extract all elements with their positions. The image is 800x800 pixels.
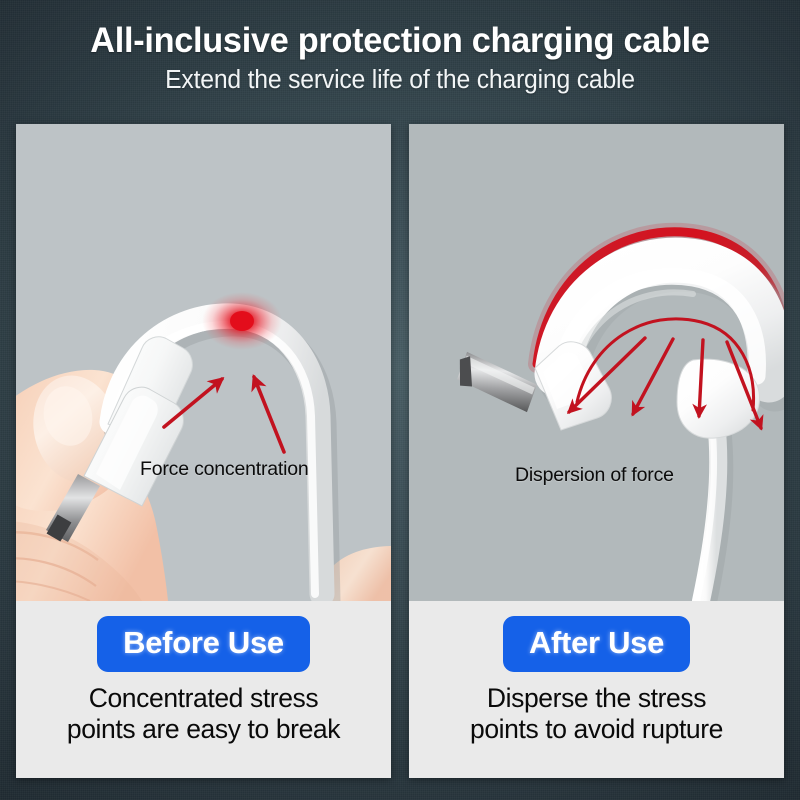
caption-before-use: Before Use Concentrated stress points ar…	[16, 601, 391, 778]
stress-point-indicator	[202, 292, 282, 350]
force-concentration-label: Force concentration	[140, 458, 309, 481]
illustration-dispersion-of-force	[409, 124, 784, 601]
illustration-force-concentration	[16, 124, 391, 601]
badge-before-use: Before Use	[97, 616, 310, 672]
caption-after-use: After Use Disperse the stress points to …	[409, 601, 784, 778]
panel-after-use: Dispersion of force After Use Disperse t…	[409, 124, 784, 778]
page-subtitle: Extend the service life of the charging …	[12, 66, 788, 95]
caption-line-2: points are easy to break	[22, 714, 385, 745]
panel-before-use: Force concentration Before Use Concentra…	[16, 124, 391, 778]
caption-text-after-use: Disperse the stress points to avoid rupt…	[409, 683, 784, 744]
photo-before-use: Force concentration	[16, 124, 391, 601]
comparison-panels: Force concentration Before Use Concentra…	[16, 124, 784, 778]
caption-text-before-use: Concentrated stress points are easy to b…	[16, 683, 391, 744]
caption-line-1: Disperse the stress	[415, 683, 778, 714]
product-infographic: All-inclusive protection charging cable …	[0, 0, 800, 800]
caption-line-2: points to avoid rupture	[415, 714, 778, 745]
caption-line-1: Concentrated stress	[22, 683, 385, 714]
page-title: All-inclusive protection charging cable	[8, 23, 792, 59]
dispersion-of-force-label: Dispersion of force	[515, 464, 674, 487]
header: All-inclusive protection charging cable …	[0, 0, 800, 118]
photo-after-use: Dispersion of force	[409, 124, 784, 601]
badge-after-use: After Use	[503, 616, 690, 672]
